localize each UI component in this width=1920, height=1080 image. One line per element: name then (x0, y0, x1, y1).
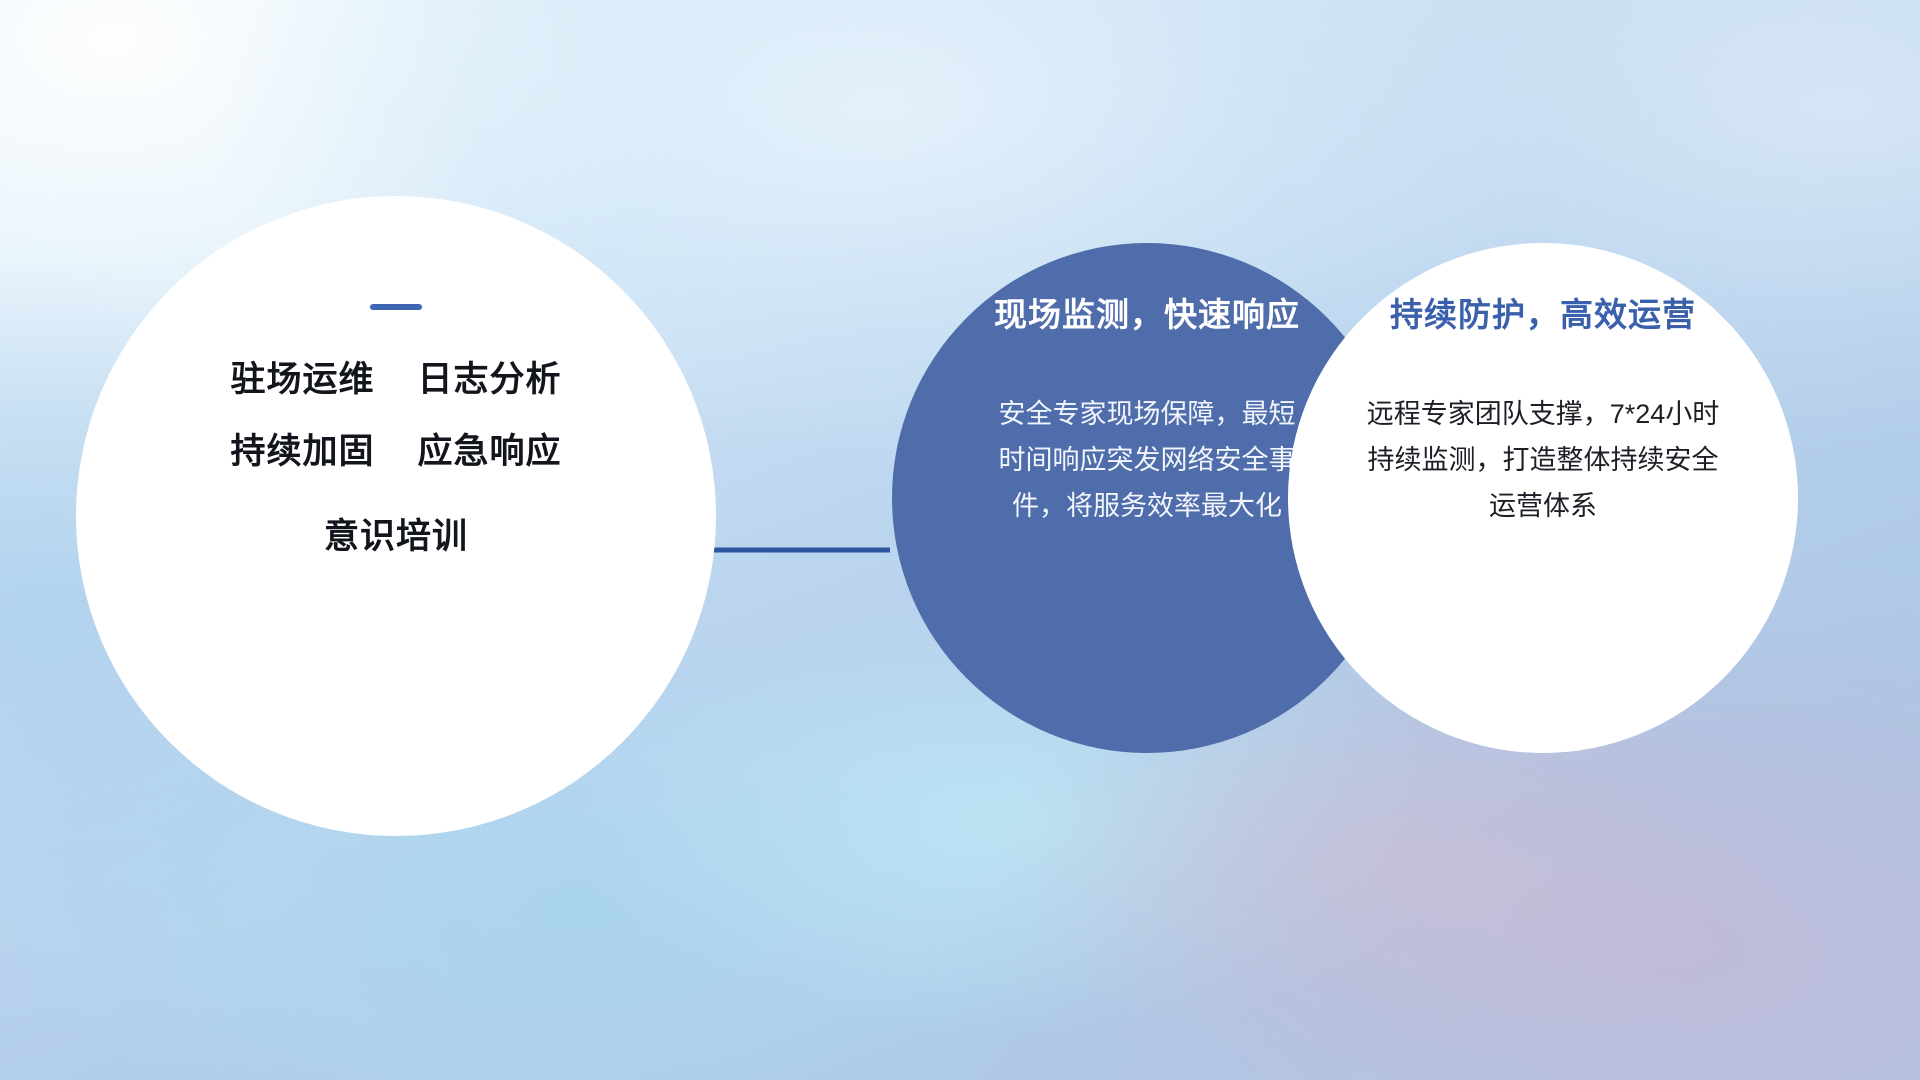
capability-line-2: 持续加固 应急响应 (231, 434, 562, 469)
capability-line-3: 意识培训 (324, 519, 468, 554)
onsite-monitoring-body: 安全专家现场保障，最短时间响应突发网络安全事件，将服务效率最大化 (988, 391, 1306, 530)
capability-line-1: 驻场运维 日志分析 (231, 362, 562, 397)
onsite-monitoring-title: 现场监测，快速响应 (994, 295, 1300, 335)
continuous-protection-circle[interactable]: 持续防护，高效运营 远程专家团队支撑，7*24小时持续监测，打造整体持续安全运营… (1288, 243, 1798, 753)
continuous-protection-body: 远程专家团队支撑，7*24小时持续监测，打造整体持续安全运营体系 (1359, 391, 1727, 530)
divider-dash-icon (370, 304, 422, 310)
continuous-protection-title: 持续防护，高效运营 (1390, 295, 1696, 335)
capabilities-circle[interactable]: 驻场运维 日志分析 持续加固 应急响应 意识培训 (76, 196, 716, 836)
slide-canvas: 驻场运维 日志分析 持续加固 应急响应 意识培训 现场监测，快速响应 安全专家现… (0, 0, 1920, 1080)
